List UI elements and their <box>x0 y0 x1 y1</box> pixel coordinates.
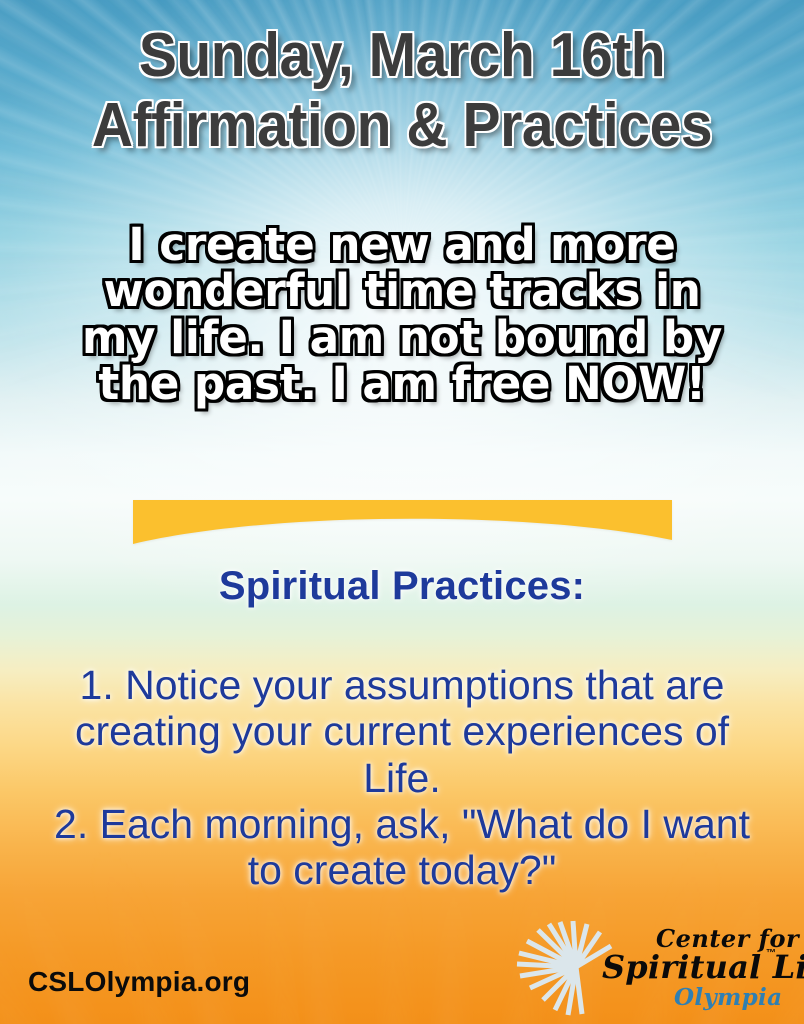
website-url[interactable]: CSLOlympia.org <box>28 966 250 998</box>
affirmation-text: I create new and more wonderful time tra… <box>12 222 792 407</box>
affirmation-line-2: wonderful time tracks in <box>12 268 792 314</box>
practice-line-1: 1. Notice your assumptions that are <box>0 662 804 708</box>
organization-logo[interactable]: Center for Spiritual Living ™ Olympia <box>510 914 786 1020</box>
practices-heading: Spiritual Practices: <box>0 566 804 606</box>
affirmation-line-1: I create new and more <box>12 222 792 268</box>
poster-canvas: Sunday, March 16th Affirmation & Practic… <box>0 0 804 1024</box>
practice-line-5: to create today?" <box>0 847 804 893</box>
practices-list: 1. Notice your assumptions that are crea… <box>0 662 804 894</box>
practice-line-3: Life. <box>0 755 804 801</box>
page-title: Sunday, March 16th Affirmation & Practic… <box>0 26 804 157</box>
arched-bar-divider-icon <box>133 500 672 544</box>
practice-line-4: 2. Each morning, ask, "What do I want <box>0 801 804 847</box>
title-line-2: Affirmation & Practices <box>32 96 772 157</box>
title-line-1: Sunday, March 16th <box>32 26 772 87</box>
affirmation-line-4: the past. I am free NOW! <box>12 361 792 407</box>
affirmation-line-3: my life. I am not bound by <box>12 315 792 361</box>
trademark-icon: ™ <box>766 948 776 959</box>
poster-content: Sunday, March 16th Affirmation & Practic… <box>0 0 804 1024</box>
practice-line-2: creating your current experiences of <box>0 708 804 754</box>
logo-line-olympia: Olympia <box>674 984 782 1011</box>
logo-wordmark: Center for Spiritual Living ™ Olympia <box>602 918 788 1018</box>
